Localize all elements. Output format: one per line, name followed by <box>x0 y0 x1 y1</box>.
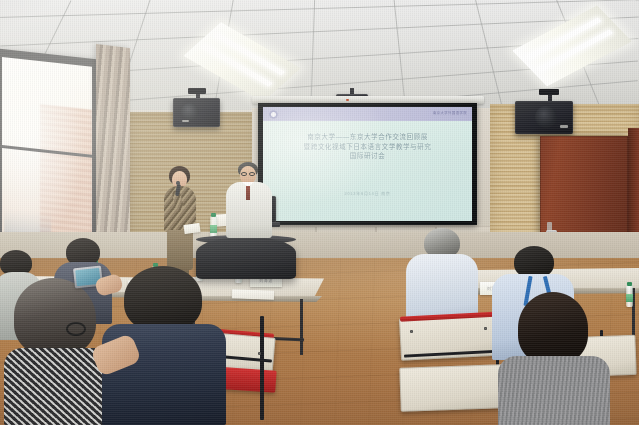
slide-title-line-2: 暨跨文化视域下日本语言文学教学与研究 <box>269 143 466 153</box>
folding-auditorium-chair[interactable] <box>399 364 504 412</box>
projected-slide: 南京大学外国语学院 南京大学——东京大学合作交流回顾展 暨跨文化视域下日本语言文… <box>263 107 472 221</box>
lower-body <box>167 230 193 270</box>
university-seal-logo <box>269 110 278 119</box>
slide-header-band: 南京大学外国语学院 <box>263 107 472 121</box>
chair-bolt <box>410 330 413 333</box>
speaker-man <box>224 162 280 242</box>
slide-title: 南京大学——东京大学合作交流回顾展 暨跨文化视域下日本语言文学教学与研究 国际研… <box>269 133 466 162</box>
microphone-capsule <box>176 181 180 185</box>
chair-bolt <box>484 327 487 330</box>
chair-frame <box>260 316 264 420</box>
ceiling-mounted-loudspeaker-right <box>515 101 573 134</box>
ceiling-mounted-loudspeaker-left <box>173 98 220 127</box>
projection-screen: 南京大学外国语学院 南京大学——东京大学合作交流回顾展 暨跨文化视域下日本语言文… <box>258 103 477 225</box>
slide-brand-text: 南京大学外国语学院 <box>433 110 467 115</box>
slide-date: 2013年6月14日 南京 <box>263 191 472 197</box>
hair <box>14 278 96 356</box>
eyeglasses <box>241 172 247 176</box>
window-overexposure <box>2 57 92 261</box>
bottled-water <box>626 285 633 307</box>
table-papers <box>232 289 274 299</box>
speaker-bracket-right <box>539 89 559 95</box>
eyeglasses <box>66 322 86 336</box>
eyeglasses <box>249 172 255 176</box>
slide-title-line-3: 国际研讨会 <box>269 152 466 162</box>
necktie <box>246 186 250 200</box>
torso <box>498 356 610 425</box>
held-notes <box>183 223 200 234</box>
window-glass <box>2 57 92 261</box>
speaker-bracket-left <box>188 88 206 94</box>
attendee-right-front <box>498 292 610 425</box>
chair-bolt <box>258 352 261 355</box>
screen-glare <box>263 107 472 221</box>
hair <box>518 292 588 364</box>
bottled-water <box>210 216 217 238</box>
conference-room-photo: 南京大学外国语学院 南京大学——东京大学合作交流回顾展 暨跨文化视域下日本语言文… <box>0 0 639 425</box>
slide-title-line-1: 南京大学——东京大学合作交流回顾展 <box>269 133 466 143</box>
hair <box>124 266 202 332</box>
table-leg <box>300 299 303 355</box>
